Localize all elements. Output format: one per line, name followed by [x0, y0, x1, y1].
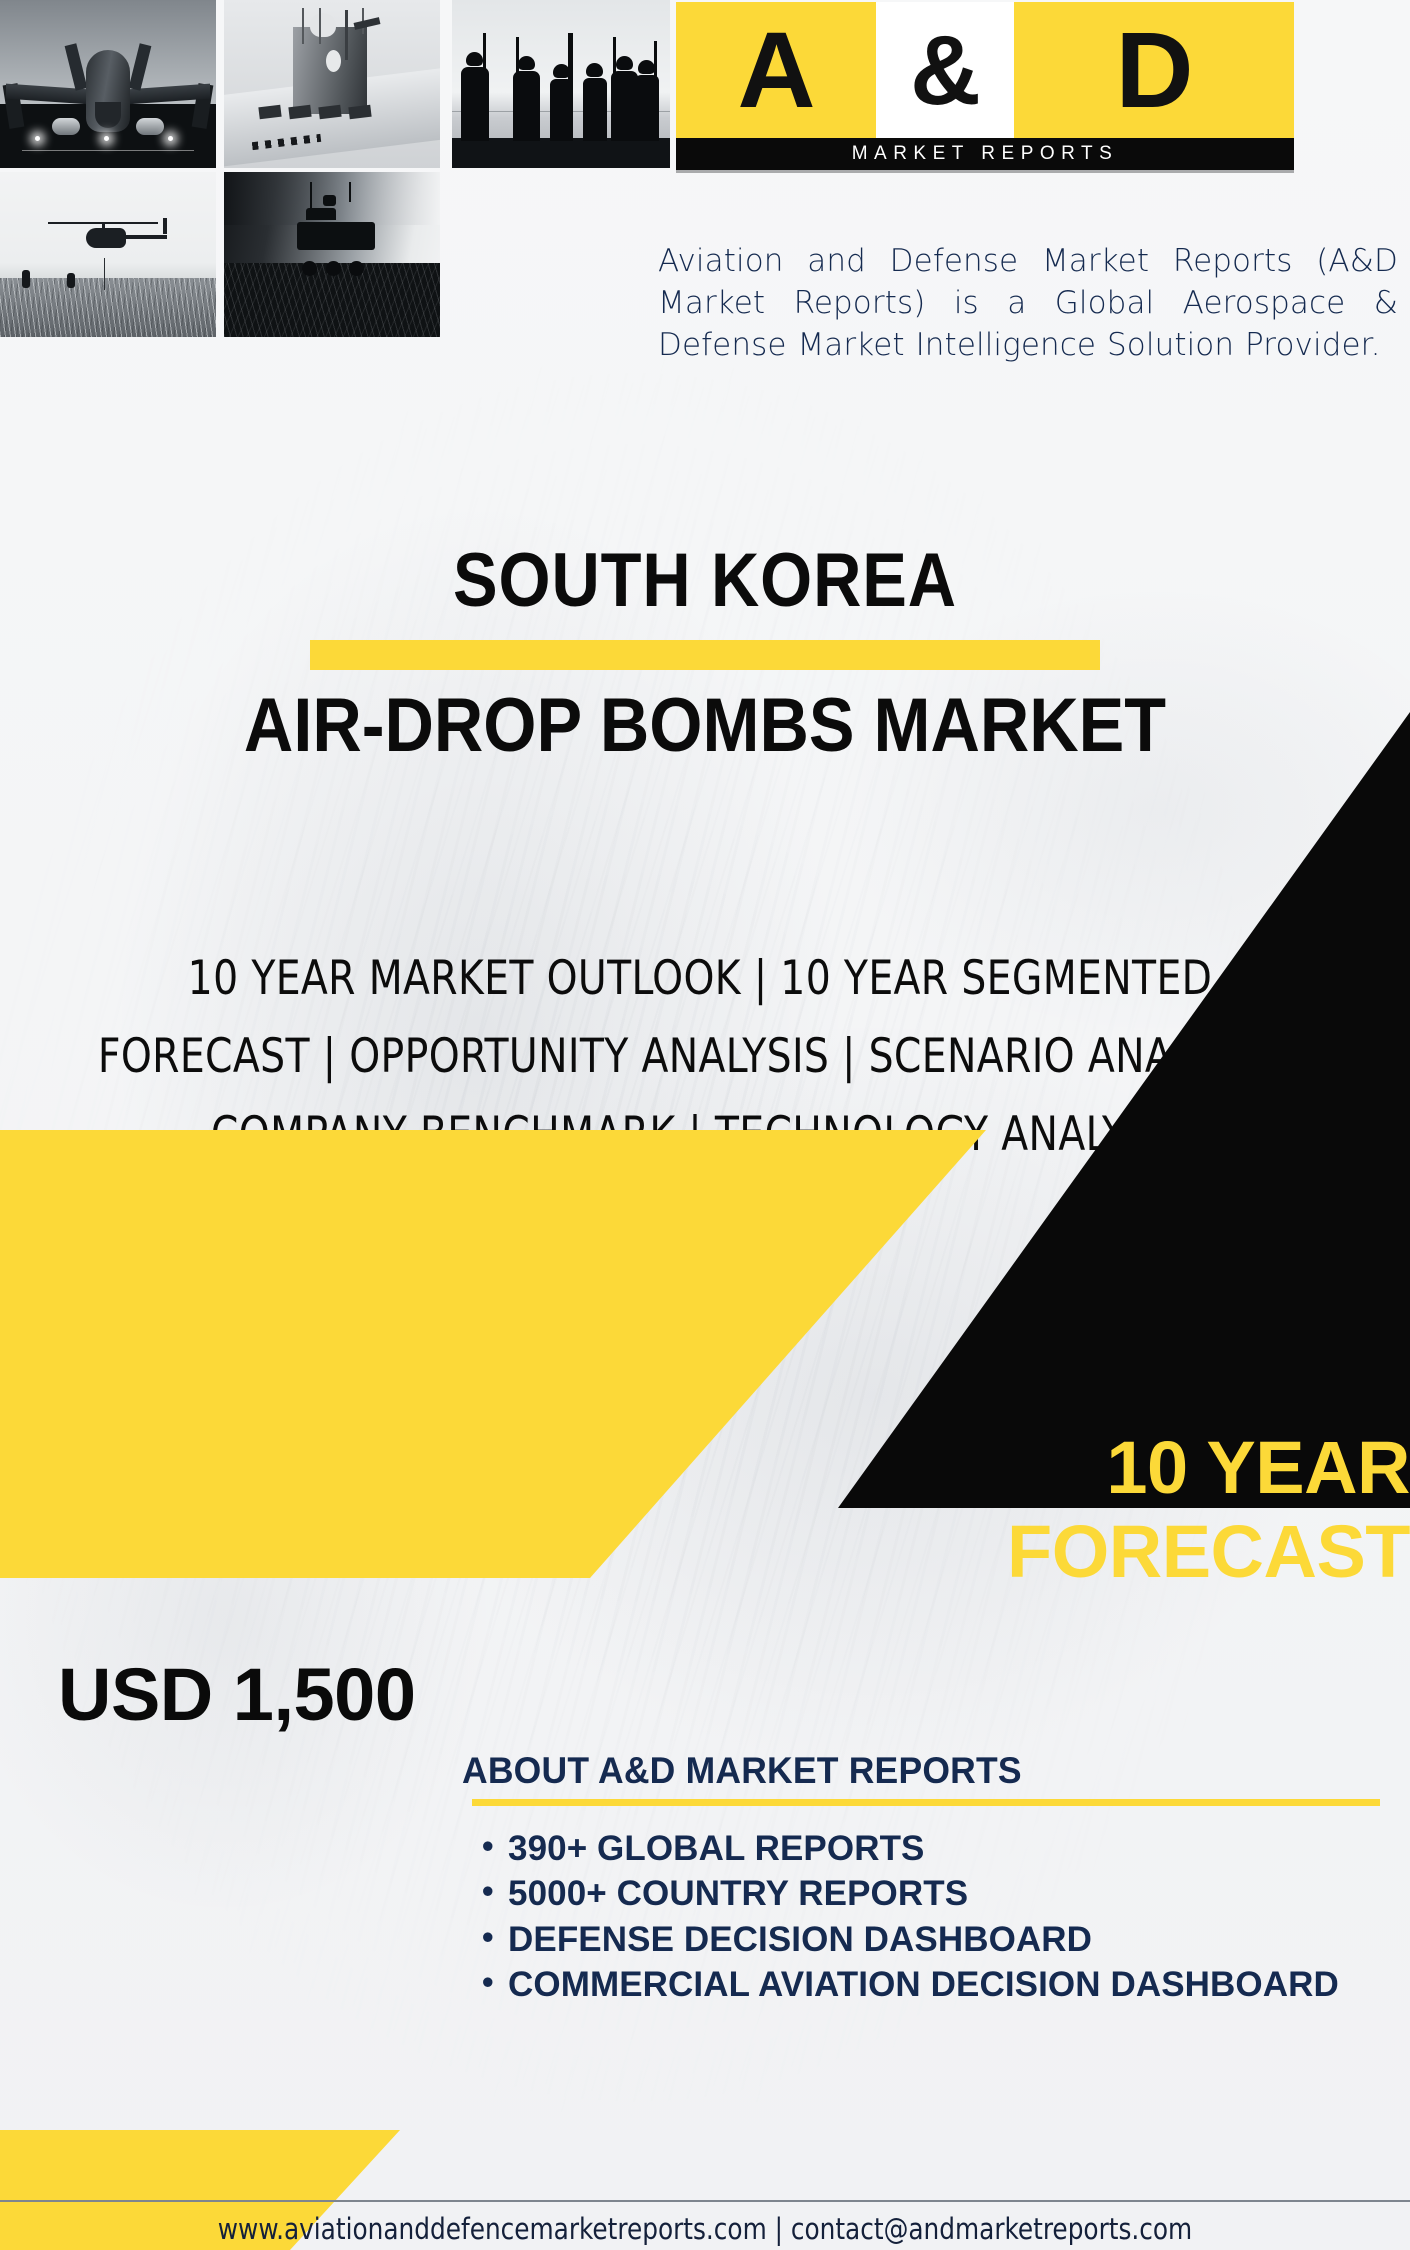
logo-bottom-divider	[676, 170, 1294, 173]
logo-letter-a: A	[676, 2, 876, 138]
about-title-underline	[472, 1799, 1380, 1806]
logo-letter-blocks: A & D	[676, 2, 1294, 138]
footer-contact: www.aviationanddefencemarketreports.com …	[35, 2212, 1375, 2246]
brand-logo: A & D MARKET REPORTS	[676, 2, 1294, 170]
report-headline: SOUTH KOREA AIR-DROP BOMBS MARKET	[0, 540, 1410, 768]
headline-country: SOUTH KOREA	[85, 540, 1326, 622]
photo-strip	[0, 0, 672, 338]
list-item: DEFENSE DECISION DASHBOARD	[508, 1919, 1392, 1961]
price-label: USD 1,500	[58, 1652, 415, 1737]
helicopter-photo	[0, 172, 216, 337]
company-intro-paragraph: Aviation and Defense Market Reports (A&D…	[658, 240, 1398, 366]
fighter-jet-photo	[0, 0, 216, 168]
logo-subtitle-bar: MARKET REPORTS	[676, 138, 1294, 170]
soldiers-silhouette-photo	[452, 0, 670, 168]
forecast-badge: 10 YEAR FORECAST	[750, 1428, 1410, 1592]
list-item: 390+ GLOBAL REPORTS	[508, 1828, 1392, 1870]
armored-vehicle-photo	[224, 172, 440, 337]
about-bullet-list: 390+ GLOBAL REPORTS 5000+ COUNTRY REPORT…	[462, 1828, 1392, 2006]
aircraft-carrier-photo	[224, 0, 440, 168]
about-section-title: ABOUT A&D MARKET REPORTS	[462, 1750, 1355, 1792]
logo-letter-d: D	[1014, 2, 1294, 138]
forecast-badge-line1: 10 YEAR	[750, 1428, 1410, 1508]
list-item: 5000+ COUNTRY REPORTS	[508, 1873, 1392, 1915]
forecast-badge-line2: FORECAST	[750, 1512, 1410, 1592]
logo-letter-amp: &	[876, 2, 1014, 138]
headline-divider	[310, 640, 1100, 670]
list-item: COMMERCIAL AVIATION DECISION DASHBOARD	[508, 1964, 1392, 2006]
logo-subtitle: MARKET REPORTS	[852, 143, 1119, 165]
about-section: ABOUT A&D MARKET REPORTS 390+ GLOBAL REP…	[462, 1750, 1392, 2009]
headline-market: AIR-DROP BOMBS MARKET	[71, 684, 1340, 768]
footer-divider	[0, 2200, 1410, 2202]
